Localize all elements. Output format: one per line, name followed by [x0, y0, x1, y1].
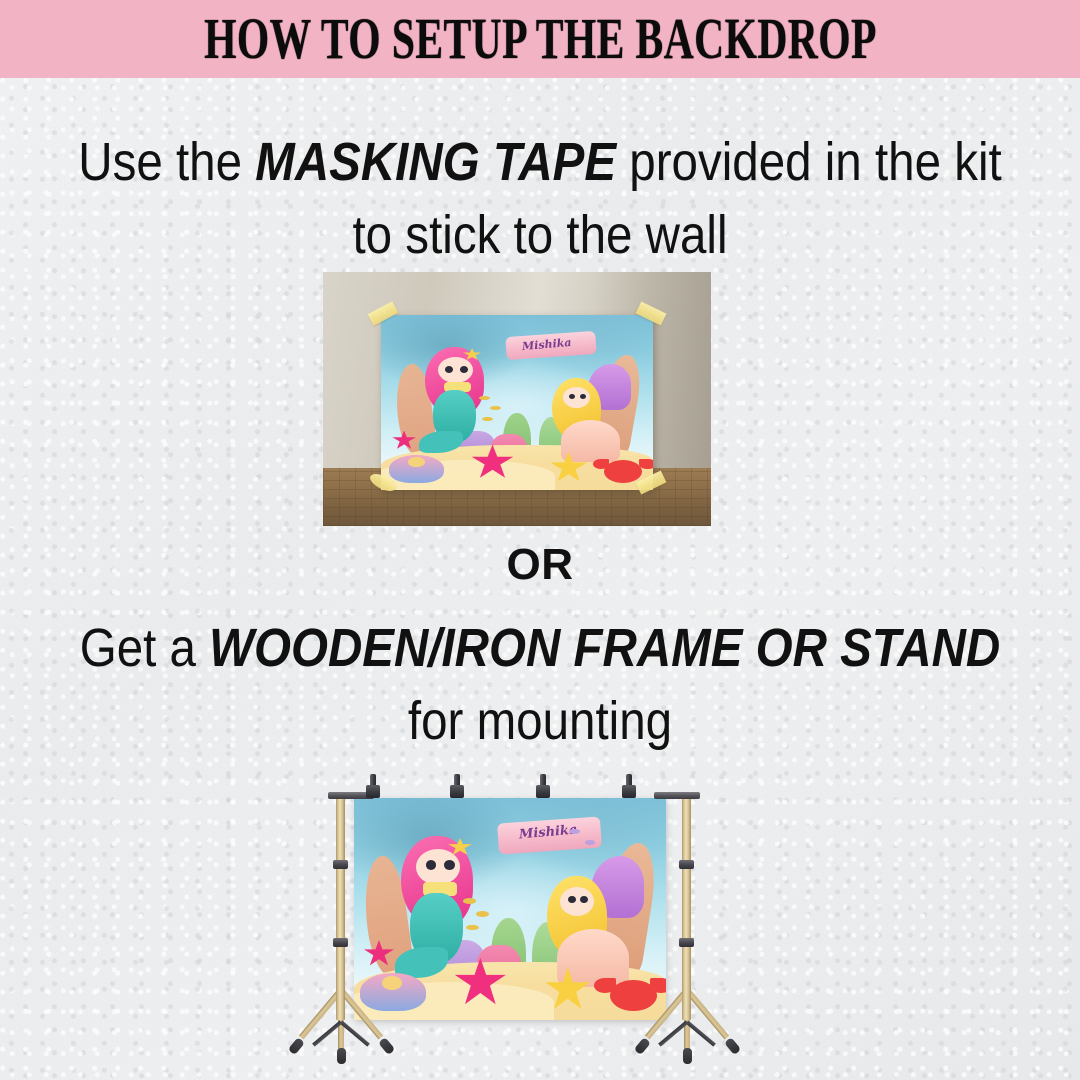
mermaid-pink-eye-right-2 — [444, 860, 455, 870]
tripod-left-foot-right — [378, 1037, 395, 1055]
mermaid-blonde-face-2 — [560, 887, 594, 916]
fish-school-3 — [482, 417, 493, 421]
pearl — [408, 457, 424, 468]
stand-height-collar-right-lower[interactable] — [679, 938, 694, 947]
backdrop-clamp-1[interactable] — [366, 774, 380, 798]
backdrop-print-on-stand: Mishika — [354, 798, 666, 1020]
tripod-right-leg-right — [685, 988, 729, 1039]
instruction-1-emphasis: MASKING TAPE — [255, 132, 616, 192]
stand-height-collar-left-lower[interactable] — [333, 938, 348, 947]
separator-or: OR — [0, 540, 1080, 590]
mermaid-blonde-eye-left-2 — [568, 896, 576, 904]
tripod-right-foot-center — [683, 1048, 692, 1064]
page-title: HOW TO SETUP THE BACKDROP — [204, 6, 877, 72]
fish-school-a — [463, 898, 476, 904]
stand-pole-left — [336, 794, 345, 1020]
fish-school — [479, 396, 490, 400]
red-crab-claw-right — [639, 459, 653, 470]
mermaid-blonde-face — [563, 387, 590, 408]
fish-school-d — [569, 829, 580, 834]
mermaid-pink-eye-left — [445, 366, 453, 373]
stand-height-collar-right-upper[interactable] — [679, 860, 694, 869]
tripod-left-foot-center — [337, 1048, 346, 1064]
header-banner: HOW TO SETUP THE BACKDROP — [0, 0, 1080, 78]
backdrop-print-on-wall: Mishika — [381, 315, 653, 490]
mermaid-artwork-stand: Mishika — [354, 798, 666, 1020]
stand-pole-right — [682, 794, 691, 1020]
instruction-2-emphasis: WOODEN/IRON FRAME OR STAND — [209, 618, 1000, 678]
instruction-frame-method: Get a WOODEN/IRON FRAME OR STAND for mou… — [65, 612, 1015, 759]
photo-backdrop-taped-to-wall: Mishika — [323, 272, 711, 526]
backdrop-clamp-4[interactable] — [622, 774, 636, 798]
red-crab-claw-right-2 — [650, 978, 666, 994]
mermaid-pink-eye-right — [460, 366, 468, 373]
instruction-2-part-1: Get a — [80, 618, 209, 678]
instruction-tape-method: Use the MASKING TAPE provided in the kit… — [65, 126, 1015, 273]
backdrop-clamp-3[interactable] — [536, 774, 550, 798]
tripod-right-foot-left — [634, 1037, 651, 1055]
stand-height-collar-left-upper[interactable] — [333, 860, 348, 869]
tripod-right-foot-right — [724, 1037, 741, 1055]
instruction-1-part-1: Use the — [78, 132, 255, 192]
mermaid-artwork: Mishika — [381, 315, 653, 490]
stand-top-bracket-right — [654, 792, 700, 799]
photo-backdrop-on-stand: Mishika — [300, 768, 770, 1074]
backdrop-clamp-2[interactable] — [450, 774, 464, 798]
red-crab-body — [604, 460, 642, 483]
fish-school-b — [476, 911, 489, 917]
instruction-2-part-3: for mounting — [408, 691, 672, 751]
